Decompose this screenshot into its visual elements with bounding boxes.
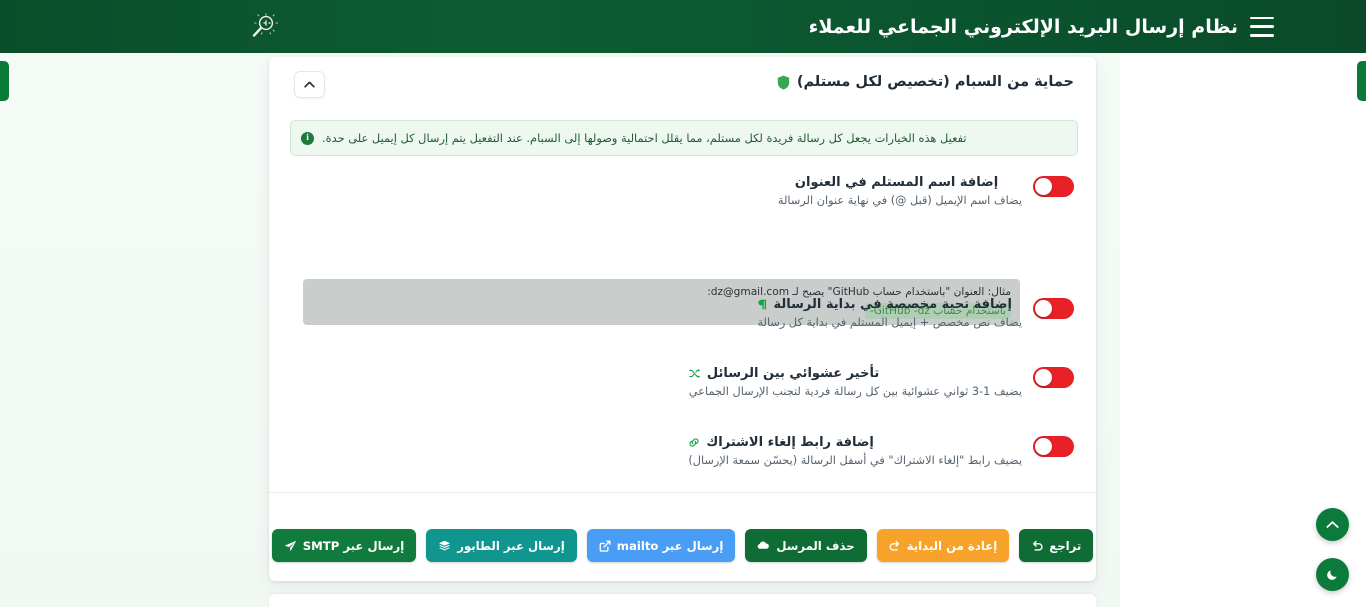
option-title-text: إضافة رابط إلغاء الاشتراك	[706, 435, 874, 450]
option-row-recipient-name-in-subject: إضافة اسم المستلم في العنوان H يضاف اسم …	[778, 175, 1074, 207]
undo-icon	[1031, 540, 1043, 551]
option-title: إضافة تحية مخصصة في بداية الرسالة	[757, 297, 1022, 312]
page-title: حماية من السبام (تخصيص لكل مستلم)	[777, 74, 1074, 90]
shuffle-icon	[689, 368, 701, 379]
option-description: يضيف 1-3 ثواني عشوائية بين كل رسالة فردي…	[689, 385, 1022, 398]
toggle-random-delay[interactable]	[1033, 367, 1074, 388]
undo-button-label: تراجع	[1049, 539, 1081, 553]
collapse-section-button[interactable]	[294, 71, 325, 98]
moon-icon	[1326, 568, 1339, 581]
toggle-recipient-name-in-subject[interactable]	[1033, 176, 1074, 197]
send-via-queue-button[interactable]: إرسال عبر الطابور	[426, 529, 577, 562]
option-title-text: إضافة تحية مخصصة في بداية الرسالة	[773, 297, 1011, 312]
delete-sender-button[interactable]: حذف المرسل	[745, 529, 866, 562]
shield-icon	[777, 75, 790, 90]
external-link-icon	[599, 540, 611, 552]
right-edge-tab[interactable]	[1357, 61, 1366, 101]
hamburger-icon[interactable]	[1250, 17, 1274, 37]
send-via-mailto-button-label: إرسال عبر mailto	[617, 539, 724, 553]
send-via-smtp-button-label: إرسال عبر SMTP	[303, 539, 405, 553]
dark-mode-toggle-button[interactable]	[1316, 558, 1349, 591]
chevron-up-icon	[1326, 520, 1339, 529]
restart-button-label: إعادة من البداية	[907, 539, 998, 553]
redo-icon	[889, 540, 901, 551]
heading-h-icon: H	[778, 177, 789, 188]
action-buttons-row: تراجع إعادة من البداية حذف المرسل	[269, 529, 1096, 562]
undo-button[interactable]: تراجع	[1019, 529, 1093, 562]
toggle-unsubscribe-link[interactable]	[1033, 436, 1074, 457]
cloud-upload-icon	[757, 540, 770, 551]
card-header: حماية من السبام (تخصيص لكل مستلم)	[269, 57, 1096, 113]
info-alert: i تفعيل هذه الخيارات يجعل كل رسالة فريدة…	[290, 120, 1078, 156]
option-title-text: إضافة اسم المستلم في العنوان	[795, 175, 998, 190]
next-card-peek	[269, 594, 1096, 607]
option-description: يضاف نص مخصص + إيميل المستلم في بداية كل…	[757, 316, 1022, 329]
left-edge-tab[interactable]	[0, 61, 9, 101]
footer-divider	[269, 492, 1096, 493]
option-title: تأخير عشوائي بين الرسائل	[689, 366, 1022, 381]
link-icon	[688, 437, 700, 448]
paragraph-icon	[757, 299, 767, 310]
restart-button[interactable]: إعادة من البداية	[877, 529, 1010, 562]
option-description: يضيف رابط "إلغاء الاشتراك" في أسفل الرسا…	[688, 454, 1022, 467]
delete-sender-button-label: حذف المرسل	[776, 539, 854, 553]
app-header: نظام إرسال البريد الإلكتروني الجماعي للع…	[0, 0, 1366, 53]
send-via-mailto-button[interactable]: إرسال عبر mailto	[587, 529, 736, 562]
option-title: إضافة اسم المستلم في العنوان H	[778, 175, 1022, 190]
layers-icon	[438, 540, 451, 551]
chevron-up-icon	[304, 81, 315, 88]
option-row-unsubscribe-link: إضافة رابط إلغاء الاشتراك يضيف رابط "إلغ…	[688, 435, 1074, 467]
magnifier-search-icon	[244, 10, 284, 44]
send-via-queue-button-label: إرسال عبر الطابور	[457, 539, 565, 553]
option-row-custom-greeting: إضافة تحية مخصصة في بداية الرسالة يضاف ن…	[757, 297, 1074, 329]
section-title-text: حماية من السبام (تخصيص لكل مستلم)	[797, 74, 1074, 90]
app-title: نظام إرسال البريد الإلكتروني الجماعي للع…	[809, 16, 1238, 38]
option-title: إضافة رابط إلغاء الاشتراك	[688, 435, 1022, 450]
toggle-custom-greeting[interactable]	[1033, 298, 1074, 319]
info-alert-text: تفعيل هذه الخيارات يجعل كل رسالة فريدة ل…	[322, 131, 967, 145]
info-icon: i	[301, 132, 314, 145]
scroll-to-top-button[interactable]	[1316, 508, 1349, 541]
option-description: يضاف اسم الإيميل (قبل @) في نهاية عنوان …	[778, 194, 1022, 207]
option-row-random-delay: تأخير عشوائي بين الرسائل يضيف 1-3 ثواني …	[689, 366, 1074, 398]
option-title-text: تأخير عشوائي بين الرسائل	[707, 366, 879, 381]
send-via-smtp-button[interactable]: إرسال عبر SMTP	[272, 529, 417, 562]
paper-plane-icon	[284, 540, 297, 552]
spam-protection-card: حماية من السبام (تخصيص لكل مستلم) i تفعي…	[269, 57, 1096, 581]
